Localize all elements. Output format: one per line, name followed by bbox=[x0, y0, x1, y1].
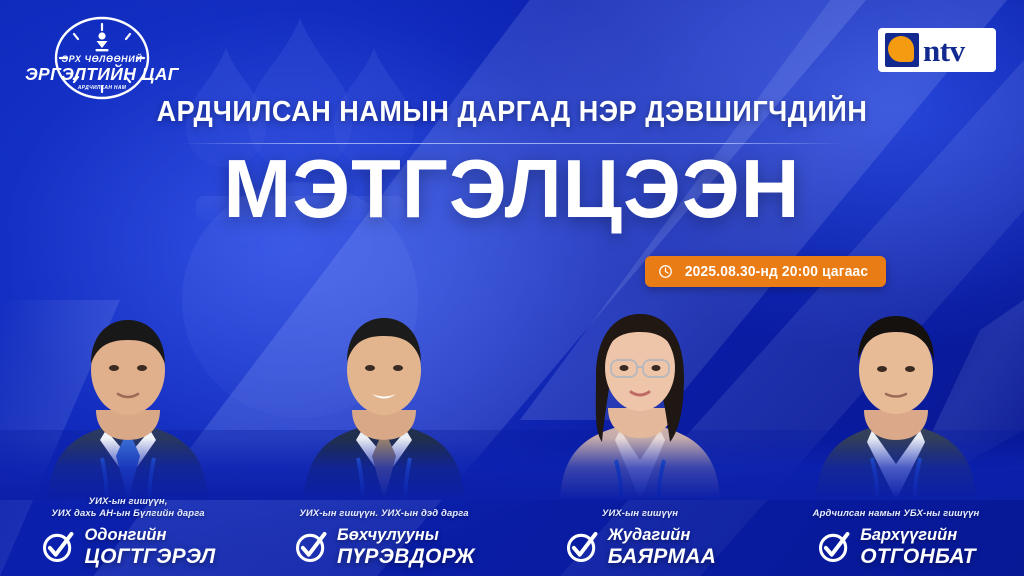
candidate-card-1: УИХ-ын гишүүн, УИХ дахь АН-ын Бүлгийн да… bbox=[0, 290, 256, 576]
candidate-first-name-2: Бөхчулууны bbox=[337, 526, 475, 545]
candidate-name-block-1: Одонгийн ЦОГТГЭРЭЛ bbox=[6, 526, 250, 568]
clock-icon bbox=[658, 264, 673, 279]
candidate-photo-3 bbox=[512, 290, 768, 500]
candidate-names-1: Одонгийн ЦОГТГЭРЭЛ bbox=[84, 526, 215, 568]
logo-subtext: АРДЧИЛСАН НАМ bbox=[77, 85, 127, 91]
candidate-role-line1: УИХ-ын гишүүн, bbox=[6, 496, 250, 508]
candidate-info-2: УИХ-ын гишүүн. УИХ-ын дэд дарга Бөхчулуу… bbox=[256, 508, 512, 568]
candidate-name-block-4: Бархүүгийн ОТГОНБАТ bbox=[774, 526, 1018, 568]
candidate-role-3: УИХ-ын гишүүн bbox=[518, 508, 762, 520]
ntv-channel-logo: ntv bbox=[878, 28, 996, 72]
candidate-role-4: Ардчилсан намын УБХ-ны гишүүн bbox=[774, 508, 1018, 520]
date-time-badge: 2025.08.30-нд 20:00 цагаас bbox=[645, 256, 886, 287]
candidate-last-name-1: ЦОГТГЭРЭЛ bbox=[84, 545, 215, 568]
candidate-role-2: УИХ-ын гишүүн. УИХ-ын дэд дарга bbox=[262, 508, 506, 520]
page-title: МЭТГЭЛЦЭЭН bbox=[10, 146, 1014, 232]
candidate-row: УИХ-ын гишүүн, УИХ дахь АН-ын Бүлгийн да… bbox=[0, 290, 1024, 576]
candidate-photo-2 bbox=[256, 290, 512, 500]
logo-line1: ЭРХ ЧӨЛӨӨНИЙ bbox=[62, 53, 143, 64]
check-circle-icon bbox=[40, 529, 76, 565]
candidate-role-line1: УИХ-ын гишүүн bbox=[518, 508, 762, 520]
candidate-role-line1: Ардчилсан намын УБХ-ны гишүүн bbox=[774, 508, 1018, 520]
candidate-name-block-2: Бөхчулууны ПҮРЭВДОРЖ bbox=[262, 526, 506, 568]
candidate-role-1: УИХ-ын гишүүн, УИХ дахь АН-ын Бүлгийн да… bbox=[6, 496, 250, 520]
check-circle-icon bbox=[293, 529, 329, 565]
ntv-orange-circle-icon bbox=[885, 33, 919, 67]
candidate-last-name-2: ПҮРЭВДОРЖ bbox=[337, 545, 475, 568]
program-logo: ЭРХ ЧӨЛӨӨНИЙ ЭРГЭЛТИЙН ЦАГ АРДЧИЛСАН НАМ bbox=[22, 14, 182, 106]
title-block: АРДЧИЛСАН НАМЫН ДАРГАД НЭР ДЭВШИГЧДИЙН М… bbox=[0, 96, 1024, 232]
candidate-last-name-3: БАЯРМАА bbox=[608, 545, 716, 568]
date-time-text: 2025.08.30-нд 20:00 цагаас bbox=[685, 264, 868, 280]
check-circle-icon bbox=[816, 529, 852, 565]
candidate-info-1: УИХ-ын гишүүн, УИХ дахь АН-ын Бүлгийн да… bbox=[0, 496, 256, 568]
candidate-info-3: УИХ-ын гишүүн Жудагийн БАЯРМАА bbox=[512, 508, 768, 568]
candidate-photo-1 bbox=[0, 290, 256, 500]
broadcast-promo-graphic: ЭРХ ЧӨЛӨӨНИЙ ЭРГЭЛТИЙН ЦАГ АРДЧИЛСАН НАМ… bbox=[0, 0, 1024, 576]
candidate-role-line2: УИХ дахь АН-ын Бүлгийн дарга bbox=[6, 508, 250, 520]
candidate-name-block-3: Жудагийн БАЯРМАА bbox=[518, 526, 762, 568]
candidate-card-4: Ардчилсан намын УБХ-ны гишүүн Бархүүгийн… bbox=[768, 290, 1024, 576]
candidate-role-line1: УИХ-ын гишүүн. УИХ-ын дэд дарга bbox=[262, 508, 506, 520]
candidate-first-name-1: Одонгийн bbox=[84, 526, 215, 545]
candidate-names-4: Бархүүгийн ОТГОНБАТ bbox=[860, 526, 976, 568]
title-kicker: АРДЧИЛСАН НАМЫН ДАРГАД НЭР ДЭВШИГЧДИЙН bbox=[36, 96, 988, 129]
candidate-photo-4 bbox=[768, 290, 1024, 500]
candidate-card-2: УИХ-ын гишүүн. УИХ-ын дэд дарга Бөхчулуу… bbox=[256, 290, 512, 576]
ntv-wordmark: ntv bbox=[923, 35, 965, 66]
candidate-names-3: Жудагийн БАЯРМАА bbox=[608, 526, 716, 568]
candidate-info-4: Ардчилсан намын УБХ-ны гишүүн Бархүүгийн… bbox=[768, 508, 1024, 568]
candidate-first-name-4: Бархүүгийн bbox=[860, 526, 976, 545]
check-circle-icon bbox=[564, 529, 600, 565]
candidate-names-2: Бөхчулууны ПҮРЭВДОРЖ bbox=[337, 526, 475, 568]
candidate-card-3: УИХ-ын гишүүн Жудагийн БАЯРМАА bbox=[512, 290, 768, 576]
candidate-last-name-4: ОТГОНБАТ bbox=[860, 545, 976, 568]
candidate-first-name-3: Жудагийн bbox=[608, 526, 716, 545]
logo-line2: ЭРГЭЛТИЙН ЦАГ bbox=[25, 63, 180, 84]
